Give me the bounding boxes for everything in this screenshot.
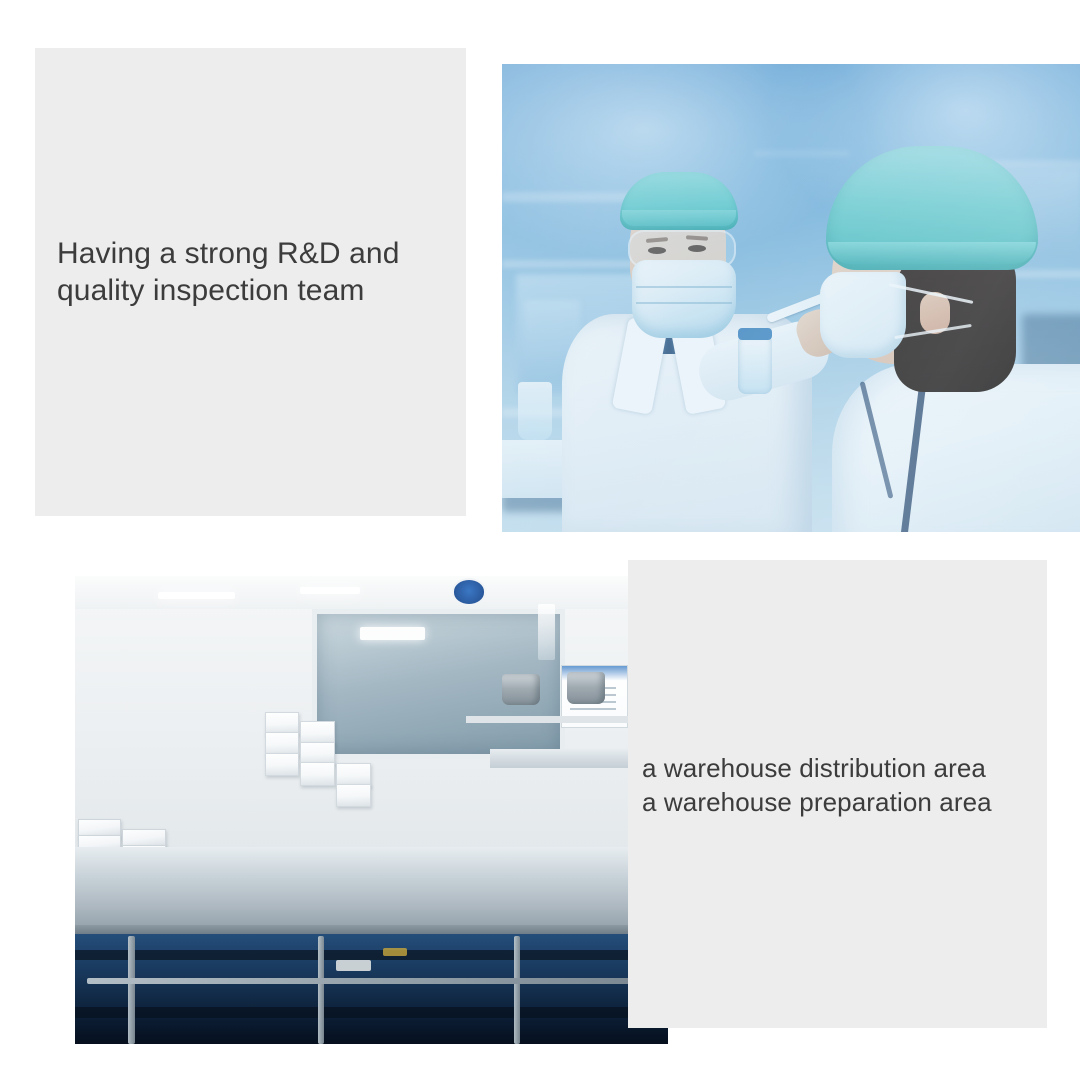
floor-rail — [75, 950, 668, 959]
window-light — [360, 627, 425, 639]
face-mask-pleat — [636, 286, 732, 288]
photo-laboratory — [502, 64, 1080, 532]
ceiling-light — [158, 592, 235, 599]
caption-warehouse-areas: a warehouse distribution area a warehous… — [642, 752, 1052, 819]
steel-container — [567, 672, 605, 704]
table-cross-brace — [87, 978, 656, 984]
floor-item — [336, 960, 372, 971]
table-leg — [128, 936, 135, 1044]
technician-left-face-mask — [632, 260, 736, 338]
wall-sign-icon — [452, 578, 487, 605]
technician-left-eye — [648, 247, 666, 254]
laboratory-scene — [502, 64, 1080, 532]
floor-rail — [75, 1007, 668, 1019]
lab-shelf — [754, 150, 850, 157]
technician-left-hairnet-band — [622, 210, 736, 226]
ceiling-light — [300, 587, 359, 594]
technician-right-hairnet-band — [828, 242, 1036, 264]
technician-left-eye — [688, 245, 706, 252]
photo-warehouse — [75, 576, 668, 1044]
sample-vial — [738, 336, 772, 394]
page-root: Having a strong R&D and quality inspecti… — [0, 0, 1080, 1080]
caption-rnd-quality: Having a strong R&D and quality inspecti… — [57, 236, 447, 310]
face-mask-pleat — [636, 302, 732, 304]
section-rnd-quality: Having a strong R&D and quality inspecti… — [0, 0, 1080, 530]
floor-marking — [383, 948, 407, 956]
warehouse-scene — [75, 576, 668, 1044]
sample-vial-cap — [738, 328, 772, 340]
section-warehouse-areas: a warehouse distribution area a warehous… — [0, 530, 1080, 1080]
steel-container — [502, 674, 540, 705]
lab-beaker — [518, 382, 552, 440]
stainless-work-table — [75, 847, 668, 931]
table-leg — [514, 936, 520, 1044]
wall-fixture — [538, 604, 556, 660]
table-leg — [318, 936, 324, 1044]
